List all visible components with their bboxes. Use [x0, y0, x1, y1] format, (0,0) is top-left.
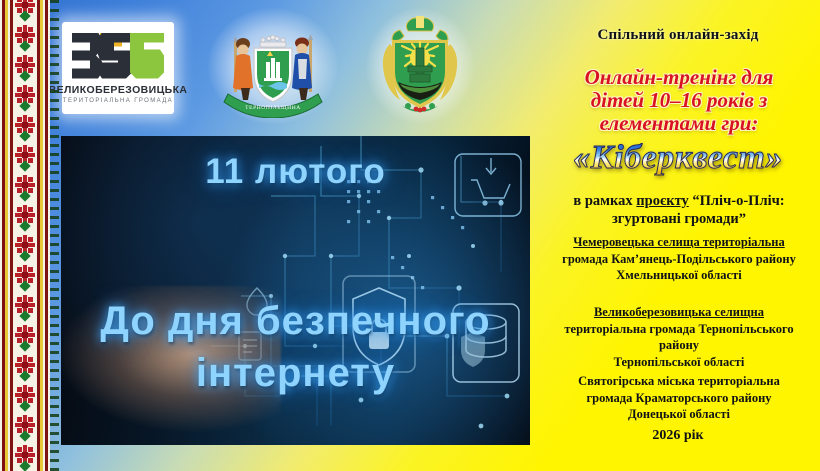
event-photo: 11 лютого До дня безпечного інтернету: [61, 136, 530, 445]
community-block-2: Великоберезовицька селищна територіальна…: [546, 304, 812, 370]
training-title: Онлайн-тренінг для дітей 10–16 років з е…: [540, 66, 818, 135]
logo-name: ВЕЛИКОБЕРЕЗОВИЦЬКА: [49, 84, 188, 96]
community-1-name: Чемеровецька селища територіальна: [573, 235, 785, 249]
photo-headline-line1: До дня безпечного: [61, 299, 530, 344]
photo-date-text: 11 лютого: [61, 152, 530, 192]
event-type-heading: Спільний онлайн-захід: [536, 27, 820, 44]
community-logo: ВЕЛИКОБЕРЕЗОВИЦЬКА ТЕРИТОРІАЛЬНА ГРОМАДА: [62, 22, 174, 114]
logo-subtitle: ТЕРИТОРІАЛЬНА ГРОМАДА: [63, 98, 173, 104]
community-2-line1: територіальна громада Тернопільського: [546, 321, 812, 338]
event-name-wordart: «Кіберквест»: [536, 139, 820, 177]
training-title-line2: дітей 10–16 років з: [540, 89, 818, 112]
community-2-name: Великоберезовицька селищна: [594, 305, 764, 319]
community-block-1: Чемеровецька селища територіальна громад…: [546, 234, 812, 284]
poster-canvas: ВЕЛИКОБЕРЕЗОВИЦЬКА ТЕРИТОРІАЛЬНА ГРОМАДА: [0, 0, 820, 471]
project-framework-line1: в рамках проєкту “Пліч-о-Пліч:: [542, 192, 816, 210]
embroidery-motifs: [13, 0, 37, 471]
photo-headline-line2: інтернету: [61, 351, 530, 396]
community-1-line2: Хмельницької області: [546, 267, 812, 284]
community-3-name: Святогірська міська територіальна: [546, 373, 812, 390]
training-title-line3: елементами гри:: [540, 112, 818, 135]
embroidery-border: [0, 0, 50, 471]
training-title-line1: Онлайн-тренінг для: [540, 66, 818, 89]
ternopil-oblast-coat-of-arms-icon: ТЕРНОПІЛЬЩИНА: [214, 14, 332, 118]
community-2-line2: району: [546, 337, 812, 354]
event-year: 2026 рік: [536, 428, 820, 444]
bzb-monogram-logo-icon: [72, 33, 164, 79]
community-1-line1: громада Кам’янець-Подільського району: [546, 251, 812, 268]
community-3-line1: громада Краматорського району: [546, 390, 812, 407]
community-2-line3: Тернопільської області: [546, 354, 812, 371]
embroidery-edge-zigzag: [50, 0, 59, 471]
info-column: Спільний онлайн-захід Онлайн-тренінг для…: [536, 0, 820, 471]
project-framework: в рамках проєкту “Пліч-о-Пліч: згуртован…: [542, 192, 816, 228]
community-block-3: Святогірська міська територіальна громад…: [546, 373, 812, 423]
community-3-line2: Донецької області: [546, 406, 812, 423]
green-coat-of-arms-icon: [372, 14, 468, 118]
svg-text:ТЕРНОПІЛЬЩИНА: ТЕРНОПІЛЬЩИНА: [245, 105, 301, 111]
project-framework-line2: згуртовані громади”: [542, 210, 816, 228]
